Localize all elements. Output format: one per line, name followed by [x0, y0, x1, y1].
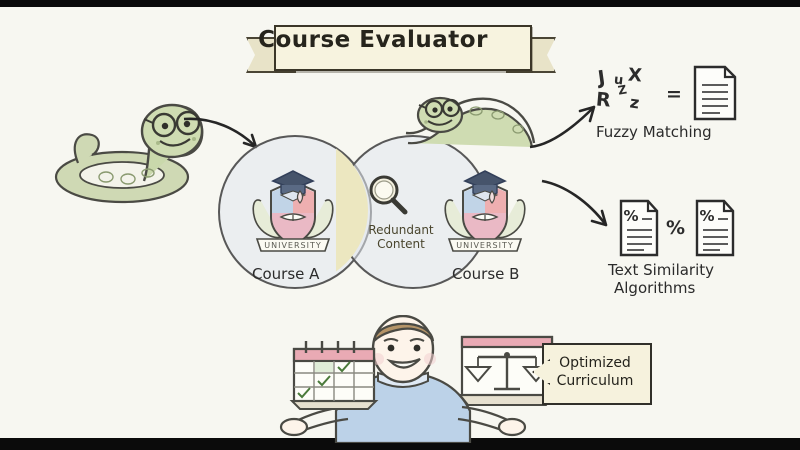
fuzzy-matching-group: J u X R Z z = Fuzzy Match: [596, 65, 776, 141]
overlap-label-line1: Redundant: [355, 223, 447, 237]
jumbled-letters-icon: J u X R Z z: [596, 67, 662, 119]
arrow-to-fuzzy-matching-icon: [528, 99, 604, 151]
letter-z-small: Z: [617, 82, 628, 97]
university-crest-course-b-icon: UNIVERSITY: [437, 155, 533, 259]
letter-r: R: [595, 88, 612, 111]
document-icon: %: [618, 199, 660, 257]
text-similarity-group: % % % Text: [608, 199, 794, 297]
letterbox-top: [0, 0, 800, 7]
text-similarity-caption-line1: Text Similarity: [608, 261, 794, 279]
overlap-label-line2: Content: [355, 237, 447, 251]
letter-x: X: [627, 65, 642, 87]
venn-label-course-a: Course A: [252, 265, 319, 283]
text-similarity-graphic: % % %: [608, 199, 794, 261]
callout-line2: Curriculum: [557, 372, 634, 390]
document-icon: [692, 65, 738, 121]
svg-text:%: %: [623, 207, 638, 225]
magnifying-glass-icon: [366, 173, 410, 217]
python-snake-icon-right: [398, 89, 538, 151]
callout-line1: Optimized: [559, 354, 631, 372]
page-title: Course Evaluator: [246, 19, 500, 61]
equals-sign: =: [666, 83, 682, 105]
venn-overlap-label: Redundant Content: [355, 223, 447, 251]
title-banner: Course Evaluator: [246, 19, 556, 73]
svg-text:%: %: [699, 207, 714, 225]
svg-text:UNIVERSITY: UNIVERSITY: [264, 241, 322, 250]
calendar-icon: [286, 337, 382, 413]
fuzzy-matching-caption: Fuzzy Matching: [596, 123, 776, 141]
arrow-to-text-similarity-icon: [540, 177, 618, 237]
letter-z: z: [629, 92, 641, 112]
university-crest-course-a-icon: UNIVERSITY: [245, 155, 341, 259]
letter-j: J: [597, 67, 607, 90]
fuzzy-matching-graphic: J u X R Z z =: [596, 65, 776, 121]
optimized-curriculum-callout: Optimized Curriculum: [534, 343, 648, 401]
whiteboard-canvas: Course Evaluator: [0, 7, 800, 438]
text-similarity-caption-line2: Algorithms: [614, 279, 794, 297]
callout-text: Optimized Curriculum: [542, 343, 648, 401]
svg-text:UNIVERSITY: UNIVERSITY: [456, 241, 514, 250]
percent-symbol: %: [666, 217, 685, 239]
illustration-stage: Course Evaluator: [0, 0, 800, 450]
venn-label-course-b: Course B: [452, 265, 519, 283]
document-icon: %: [694, 199, 736, 257]
